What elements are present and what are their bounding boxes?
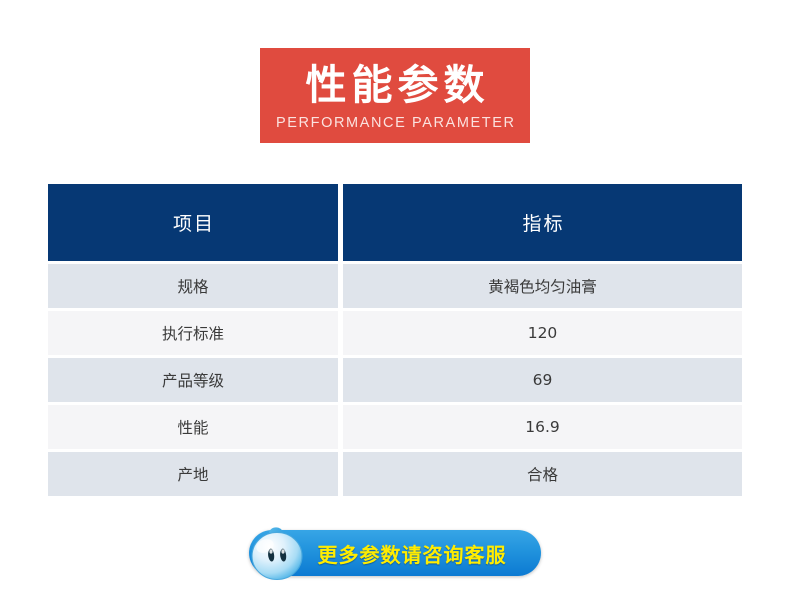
table-row: 产品等级 69: [48, 358, 742, 402]
table-cell-item: 产地: [48, 452, 338, 496]
table-cell-index: 120: [343, 311, 742, 355]
banner-subtitle: PERFORMANCE PARAMETER: [274, 115, 515, 131]
banner-box: 性能参数 PERFORMANCE PARAMETER: [260, 48, 530, 143]
table-cell-item: 性能: [48, 405, 338, 449]
table-header-row: 项目 指标: [48, 184, 742, 261]
table-row: 执行标准 120: [48, 311, 742, 355]
performance-parameter-table: 项目 指标 规格 黄褐色均匀油膏 执行标准 120 产品等级 69 性能 16.…: [48, 184, 742, 499]
table-header-item: 项目: [48, 184, 338, 261]
table-cell-index: 16.9: [343, 405, 742, 449]
table-cell-index: 合格: [343, 452, 742, 496]
banner-title: 性能参数: [301, 64, 490, 107]
table-cell-index: 黄褐色均匀油膏: [343, 264, 742, 308]
table-cell-item: 执行标准: [48, 311, 338, 355]
contact-service-button[interactable]: 更多参数请咨询客服: [249, 530, 541, 576]
table-row: 产地 合格: [48, 452, 742, 496]
table-cell-item: 产品等级: [48, 358, 338, 402]
table-header-index: 指标: [343, 184, 742, 261]
table-row: 规格 黄褐色均匀油膏: [48, 264, 742, 308]
table-row: 性能 16.9: [48, 405, 742, 449]
performance-parameter-banner: 性能参数 PERFORMANCE PARAMETER: [0, 48, 790, 143]
table-cell-index: 69: [343, 358, 742, 402]
contact-service-cta-area: 更多参数请咨询客服: [0, 530, 790, 576]
table-cell-item: 规格: [48, 264, 338, 308]
qq-chat-bubble-icon: [247, 524, 309, 584]
